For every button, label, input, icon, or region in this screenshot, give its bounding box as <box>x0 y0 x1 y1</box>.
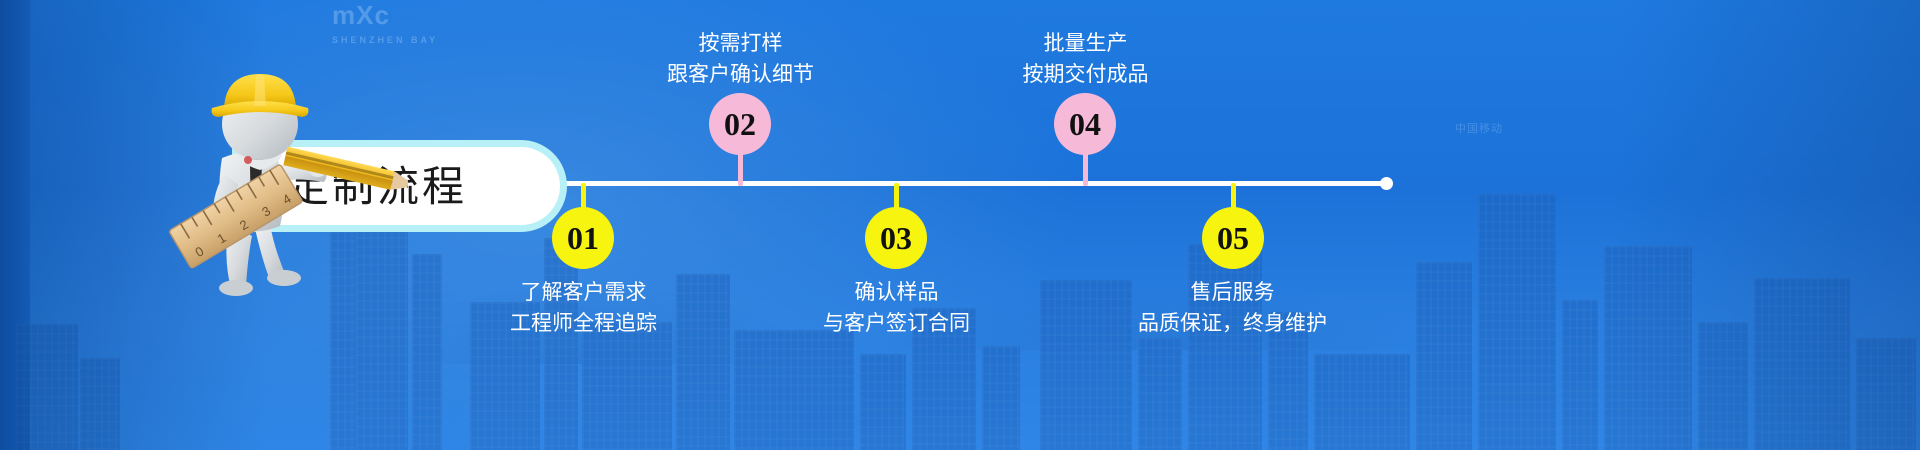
step-04-line-2: 按期交付成品 <box>953 59 1218 90</box>
watermark-logo-sub: SHENZHEN BAY <box>332 35 452 45</box>
step-02-caption: 按需打样 跟客户确认细节 <box>608 28 873 90</box>
timeline-axis <box>455 181 1385 186</box>
step-01-line-2: 工程师全程追踪 <box>451 308 716 339</box>
step-04-line-1: 批量生产 <box>953 28 1218 59</box>
step-02-line-2: 跟客户确认细节 <box>608 59 873 90</box>
mascot-svg: 0 1 2 3 4 <box>168 62 408 302</box>
step-03-badge[interactable]: 03 <box>865 207 927 269</box>
step-01-line-1: 了解客户需求 <box>451 277 716 308</box>
step-02-badge[interactable]: 02 <box>709 93 771 155</box>
step-01-caption: 了解客户需求 工程师全程追踪 <box>451 277 716 339</box>
step-05-line-1: 售后服务 <box>1100 277 1365 308</box>
banner-canvas: mXc SHENZHEN BAY 中国移动 定制流程 <box>0 0 1920 450</box>
step-02-stem <box>738 150 743 186</box>
right-watermark: 中国移动 <box>1455 120 1503 136</box>
step-03-line-2: 与客户签订合同 <box>764 308 1029 339</box>
timeline-end-dot <box>1380 177 1393 190</box>
step-05-badge[interactable]: 05 <box>1202 207 1264 269</box>
step-05-caption: 售后服务 品质保证，终身维护 <box>1100 277 1365 339</box>
engineer-mascot-illustration: 0 1 2 3 4 <box>168 62 338 282</box>
step-05-line-2: 品质保证，终身维护 <box>1100 308 1365 339</box>
step-02-line-1: 按需打样 <box>608 28 873 59</box>
step-04-stem <box>1083 150 1088 186</box>
step-04-caption: 批量生产 按期交付成品 <box>953 28 1218 90</box>
step-03-caption: 确认样品 与客户签订合同 <box>764 277 1029 339</box>
step-03-line-1: 确认样品 <box>764 277 1029 308</box>
step-04-badge[interactable]: 04 <box>1054 93 1116 155</box>
step-01-badge[interactable]: 01 <box>552 207 614 269</box>
watermark-logo-text: mXc <box>332 0 452 31</box>
